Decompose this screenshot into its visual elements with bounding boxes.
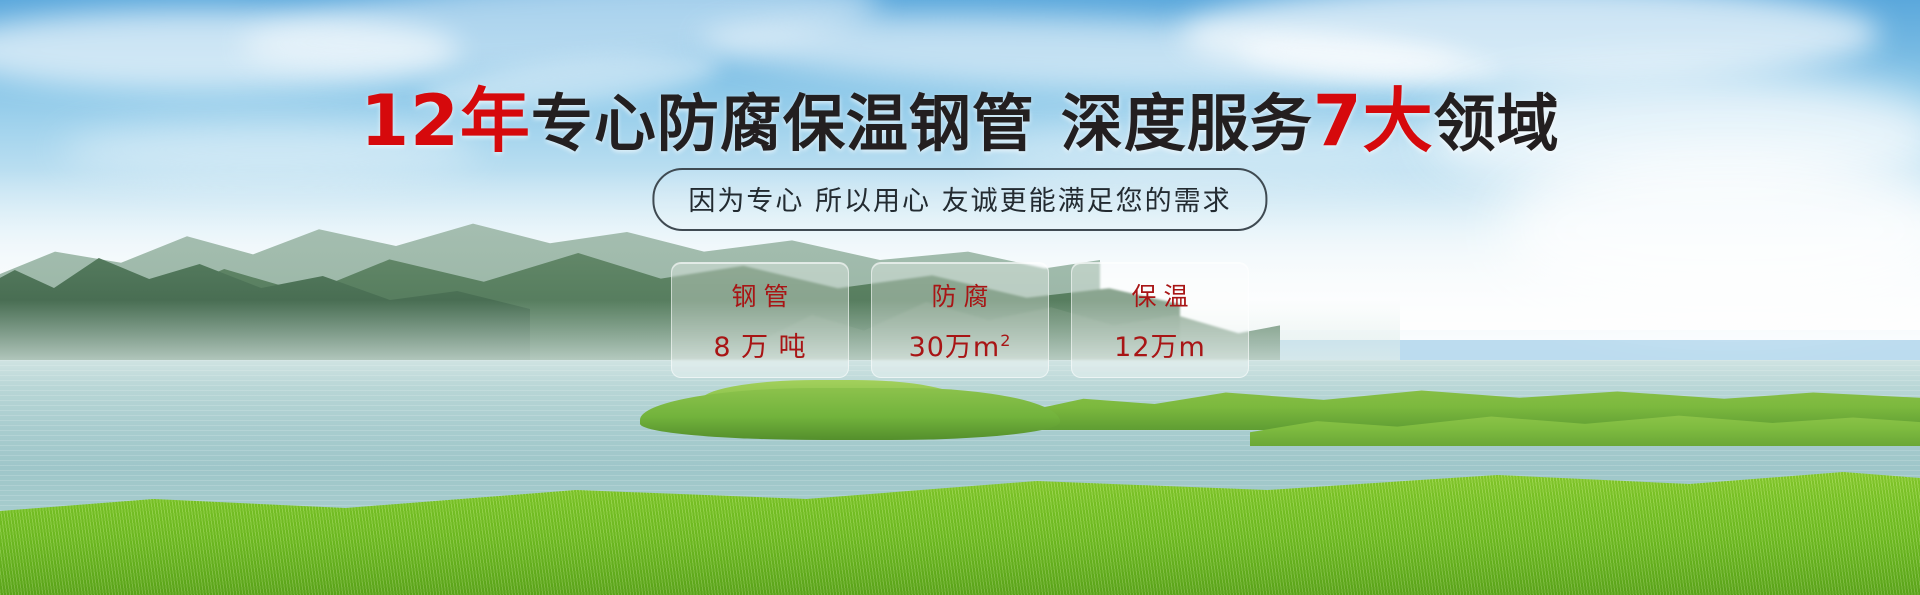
stat-value-text: 12万m [1114, 332, 1206, 363]
stat-value-text: 8 万 吨 [713, 332, 806, 363]
headline: 12年专心防腐保温钢管深度服务7大领域 [0, 86, 1920, 156]
headline-main: 专心防腐保温钢管 [531, 87, 1035, 160]
headline-highlight-number: 7大 [1313, 80, 1434, 162]
stat-card-value: 12万m [1114, 325, 1206, 364]
stat-card-anticorrosion: 防腐 30万m2 [871, 262, 1049, 378]
stat-card-value: 8 万 吨 [713, 325, 806, 364]
headline-tail: 领域 [1434, 87, 1560, 160]
stat-card-label: 保温 [1124, 277, 1195, 313]
subtitle-pill: 因为专心 所以用心 友诚更能满足您的需求 [652, 168, 1267, 231]
island-grass [640, 388, 1060, 440]
headline-service: 深度服务 [1061, 87, 1313, 160]
headline-years: 12年 [360, 80, 530, 162]
stat-card-value: 30万m2 [909, 325, 1012, 364]
stat-card-steel-pipe: 钢管 8 万 吨 [671, 262, 849, 378]
stat-card-label: 钢管 [724, 277, 795, 313]
promo-banner: 12年专心防腐保温钢管深度服务7大领域 因为专心 所以用心 友诚更能满足您的需求… [0, 0, 1920, 595]
stat-card-group: 钢管 8 万 吨 防腐 30万m2 保温 12万m [671, 262, 1249, 378]
stat-value-text: 30万m [909, 332, 1001, 363]
stat-card-label: 防腐 [924, 277, 995, 313]
stat-card-insulation: 保温 12万m [1071, 262, 1249, 378]
stat-value-superscript: 2 [1000, 331, 1011, 350]
